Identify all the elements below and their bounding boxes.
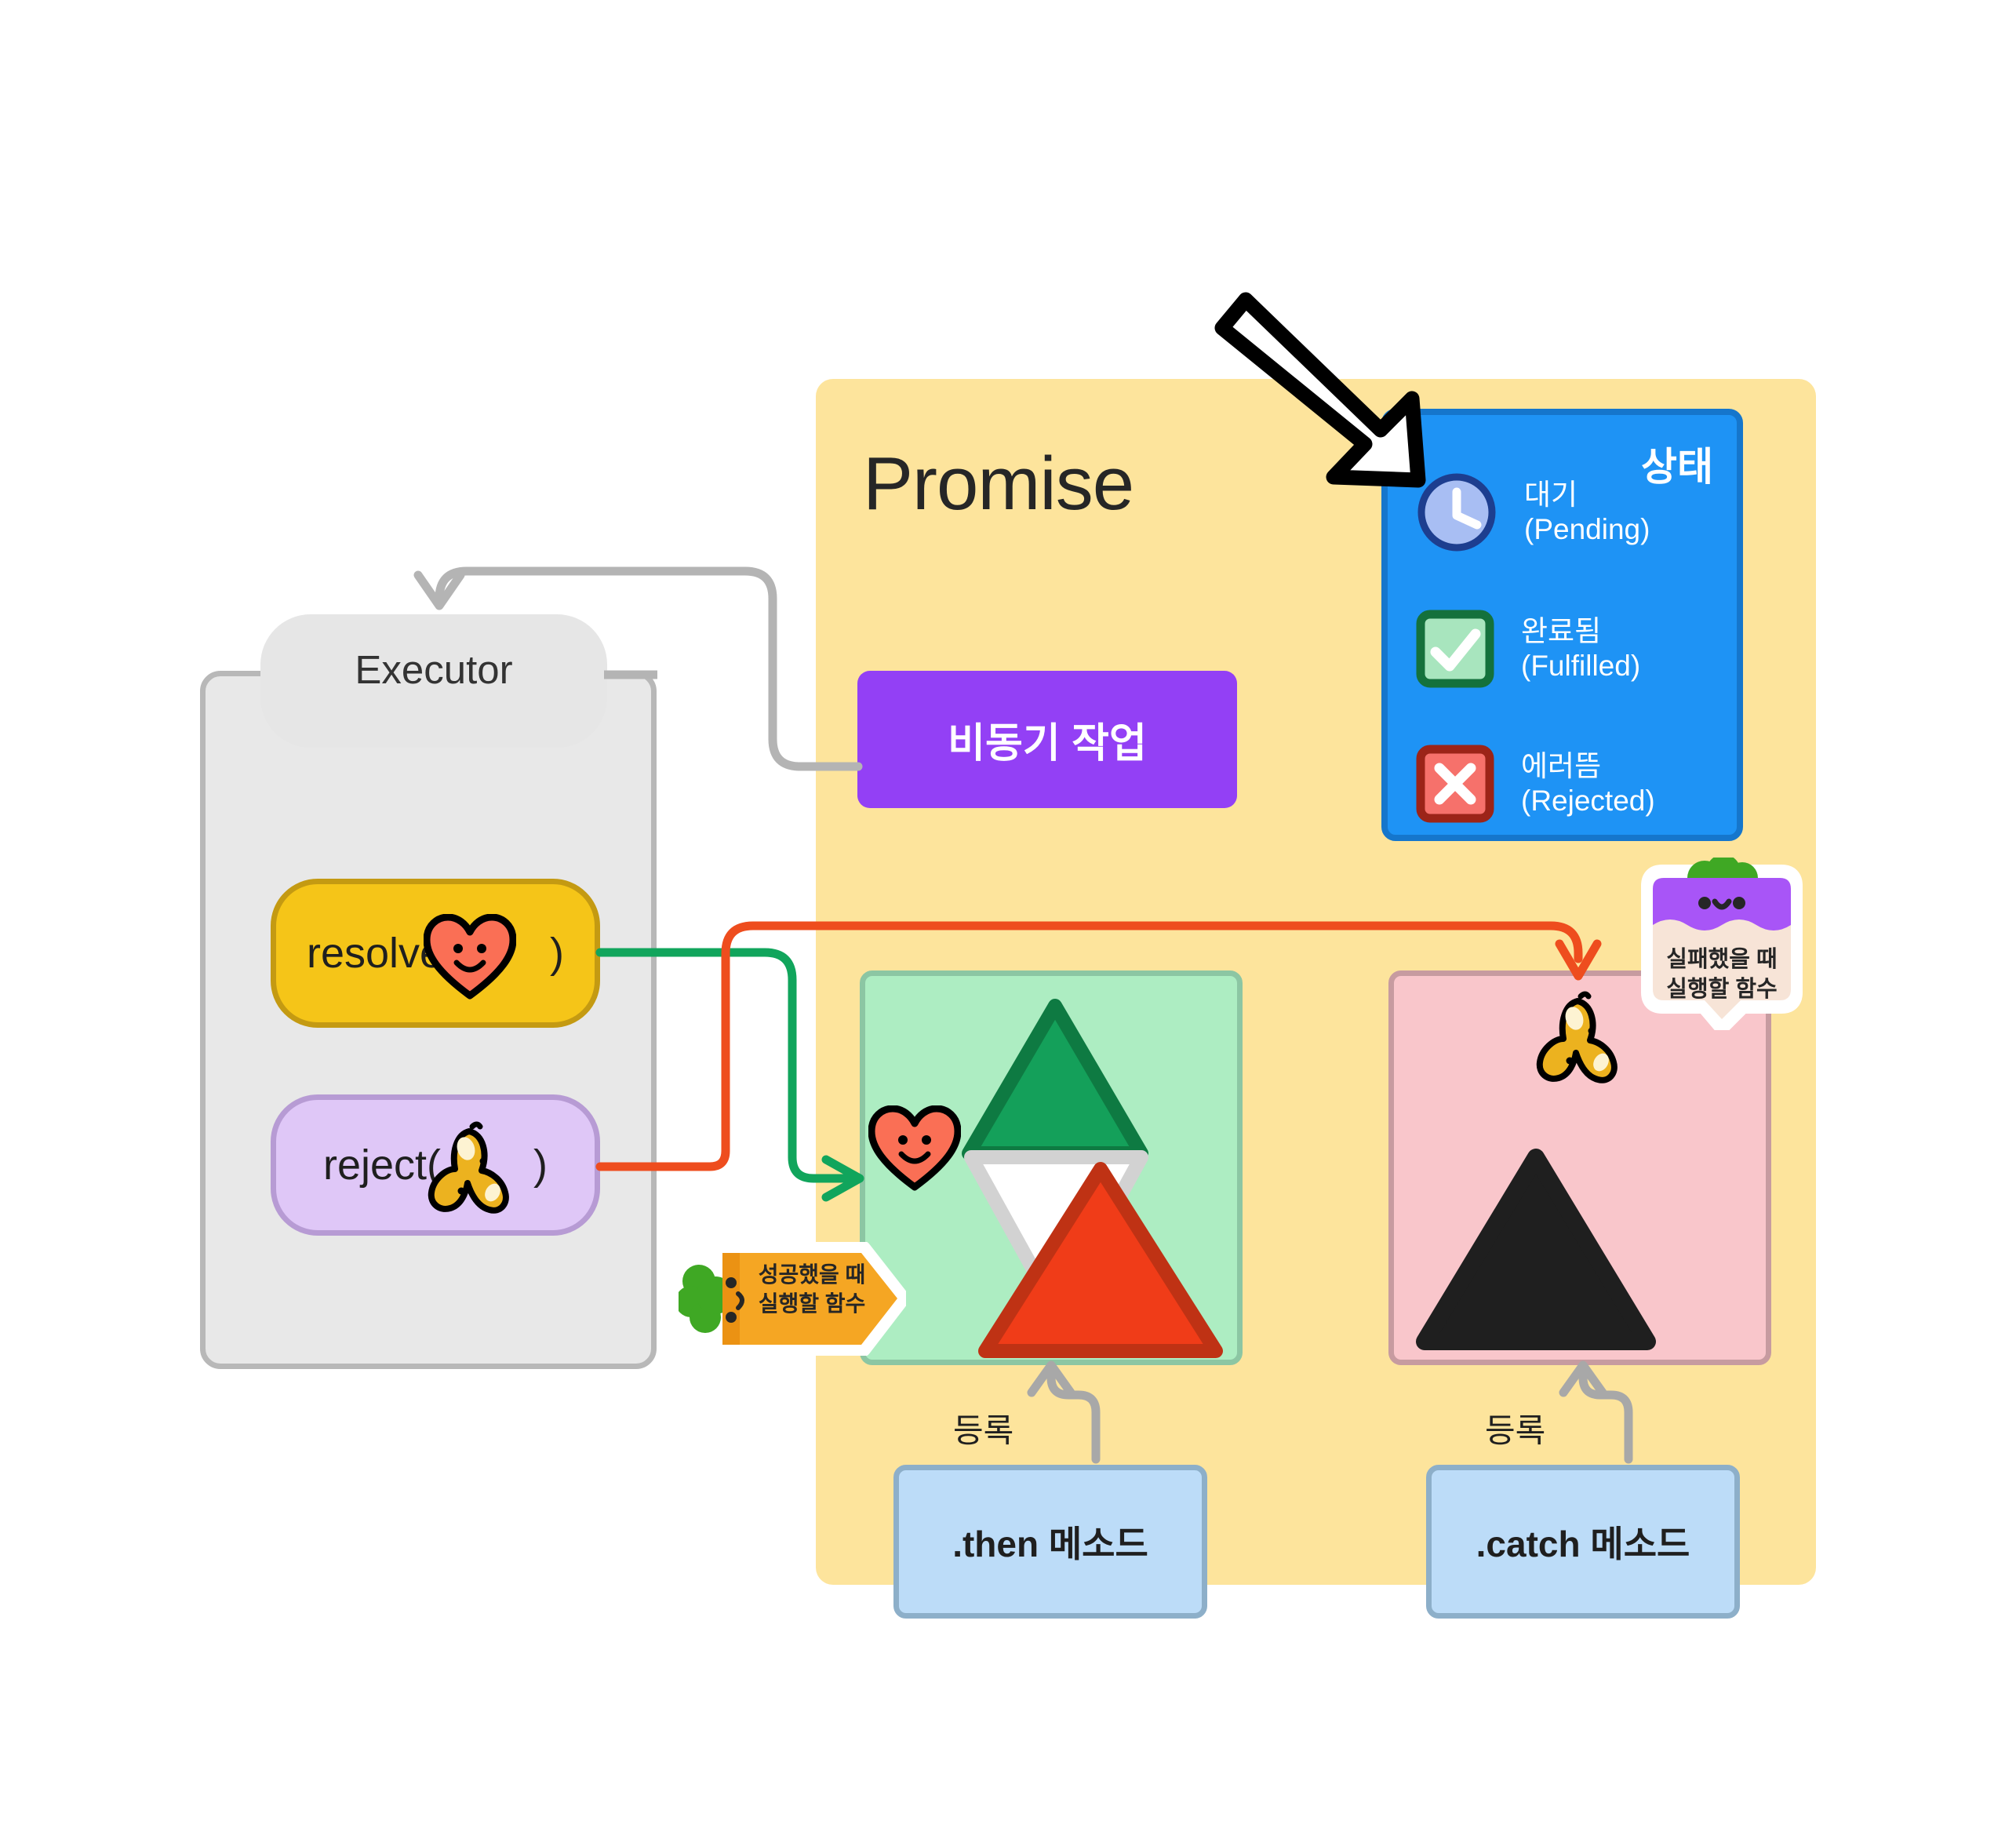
check-box-icon (1416, 610, 1494, 688)
diagram-canvas: Promise Executor resolve( ) reject( ) (0, 0, 2016, 1839)
success-callout-line1: 성공했을 때 (744, 1261, 879, 1290)
catch-method-label: .catch 메소드 (1476, 1516, 1690, 1568)
then-method-box[interactable]: .then 메소드 (893, 1465, 1207, 1619)
catch-method-box[interactable]: .catch 메소드 (1426, 1465, 1740, 1619)
async-task-label: 비동기 작업 (948, 710, 1147, 769)
status-label-ko: 에러뜸 (1521, 749, 1655, 784)
smiling-heart-icon (868, 1105, 961, 1193)
then-register-label: 등록 (953, 1404, 1013, 1452)
status-label-en: (Rejected) (1521, 784, 1655, 818)
failure-callout: 실패했을 때 실행할 함수 (1626, 858, 1818, 1030)
success-callout: 성공했을 때 실행할 함수 (679, 1242, 906, 1356)
banana-peel-icon (1534, 990, 1621, 1091)
async-task-box: 비동기 작업 (857, 671, 1237, 808)
status-box: 상태 대기 (Pending) 완료됨 (Fulfilled) (1381, 409, 1743, 841)
status-label-ko: 완료됨 (1521, 614, 1640, 649)
smiling-heart-icon (424, 914, 516, 1002)
failure-callout-line1: 실패했을 때 (1648, 945, 1796, 975)
failure-callout-line2: 실행할 함수 (1648, 975, 1796, 1005)
status-row: 대기 (Pending) (1416, 472, 1650, 553)
then-method-label: .then 메소드 (952, 1516, 1148, 1568)
status-row: 완료됨 (Fulfilled) (1416, 610, 1640, 688)
status-label-en: (Pending) (1524, 512, 1650, 547)
reject-button[interactable]: reject( ) (271, 1094, 600, 1236)
executor-tab-label: Executor (355, 646, 512, 693)
executor-tab: Executor (260, 614, 607, 748)
status-label-ko: 대기 (1524, 478, 1650, 512)
success-callout-line2: 실행할 함수 (744, 1290, 879, 1319)
clock-icon (1416, 472, 1497, 553)
executor-loop-arrowhead (418, 575, 460, 606)
catch-register-label: 등록 (1485, 1404, 1545, 1452)
status-row: 에러뜸 (Rejected) (1416, 745, 1655, 823)
page-title: Promise (863, 441, 1134, 527)
banana-peel-icon (425, 1120, 513, 1221)
resolve-button[interactable]: resolve( ) (271, 879, 600, 1028)
status-title: 상태 (1641, 435, 1713, 492)
status-label-en: (Fulfilled) (1521, 649, 1640, 683)
cross-box-icon (1416, 745, 1494, 823)
